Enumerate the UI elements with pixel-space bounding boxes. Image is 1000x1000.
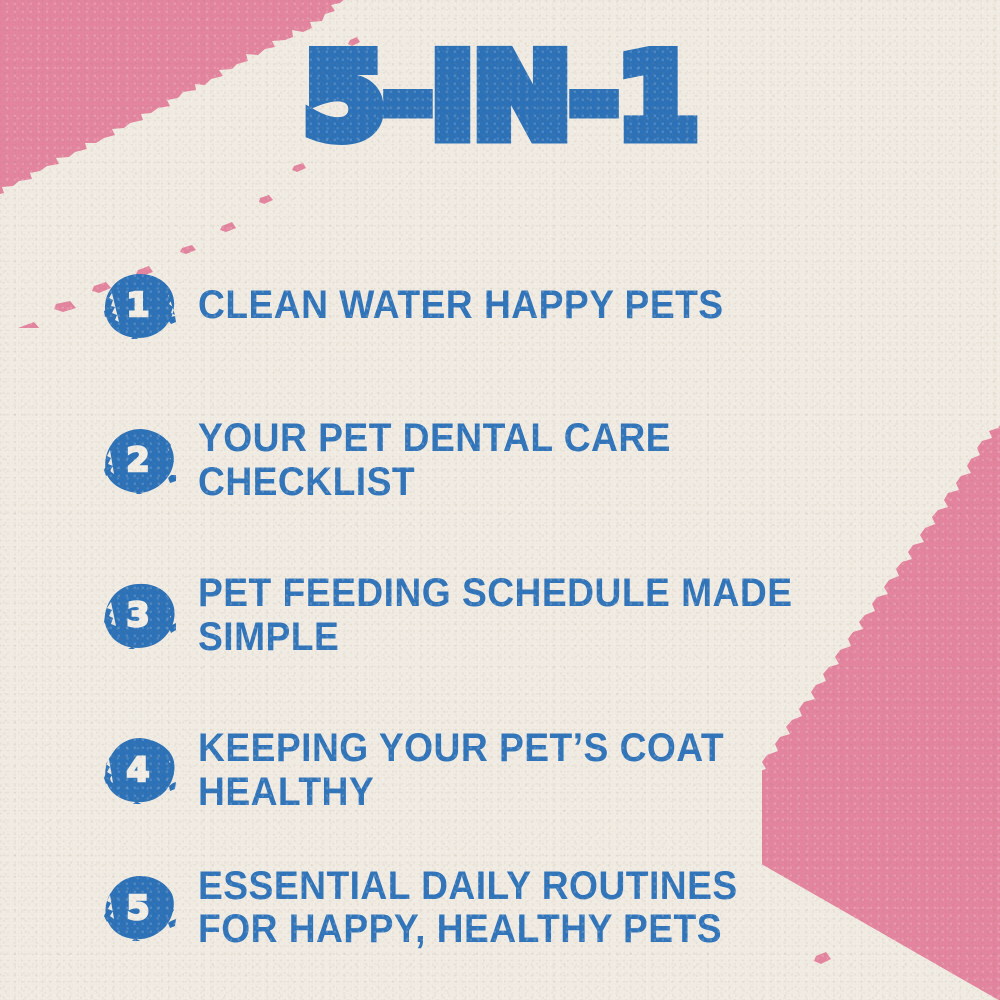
- badge-number: 3: [127, 598, 150, 631]
- list-item[interactable]: 4 KEEPING YOUR PET’S COAT HEALTHY: [104, 693, 934, 848]
- title-container: 5-IN-1: [0, 40, 1000, 156]
- badge-number: 4: [127, 753, 150, 786]
- badge-number: 5: [127, 891, 150, 924]
- number-badge: 4: [104, 738, 176, 804]
- number-badge: 2: [104, 428, 176, 494]
- list-item[interactable]: 1 CLEAN WATER HAPPY PETS: [104, 228, 934, 383]
- badge-number: 2: [127, 443, 150, 476]
- badge-number: 1: [127, 288, 150, 321]
- list-item-label: CLEAN WATER HAPPY PETS: [198, 284, 724, 327]
- list-item[interactable]: 5 ESSENTIAL DAILY ROUTINES FOR HAPPY, HE…: [104, 848, 934, 968]
- page-title: 5-IN-1: [303, 40, 697, 156]
- list-item-label: ESSENTIAL DAILY ROUTINES FOR HAPPY, HEAL…: [198, 865, 738, 951]
- number-badge: 1: [104, 273, 176, 339]
- list-item[interactable]: 2 YOUR PET DENTAL CARE CHECKLIST: [104, 383, 934, 538]
- number-badge: 5: [104, 875, 176, 941]
- list-item-label: YOUR PET DENTAL CARE CHECKLIST: [198, 417, 882, 503]
- list-item-label: PET FEEDING SCHEDULE MADE SIMPLE: [198, 572, 882, 658]
- list-item-label: KEEPING YOUR PET’S COAT HEALTHY: [198, 727, 882, 813]
- poster-canvas: 5-IN-1 1 CLEAN WATER HAPPY PETS 2 YOU: [0, 0, 1000, 1000]
- tips-list: 1 CLEAN WATER HAPPY PETS 2 YOUR PET DENT…: [104, 228, 934, 968]
- list-item[interactable]: 3 PET FEEDING SCHEDULE MADE SIMPLE: [104, 538, 934, 693]
- number-badge: 3: [104, 583, 176, 649]
